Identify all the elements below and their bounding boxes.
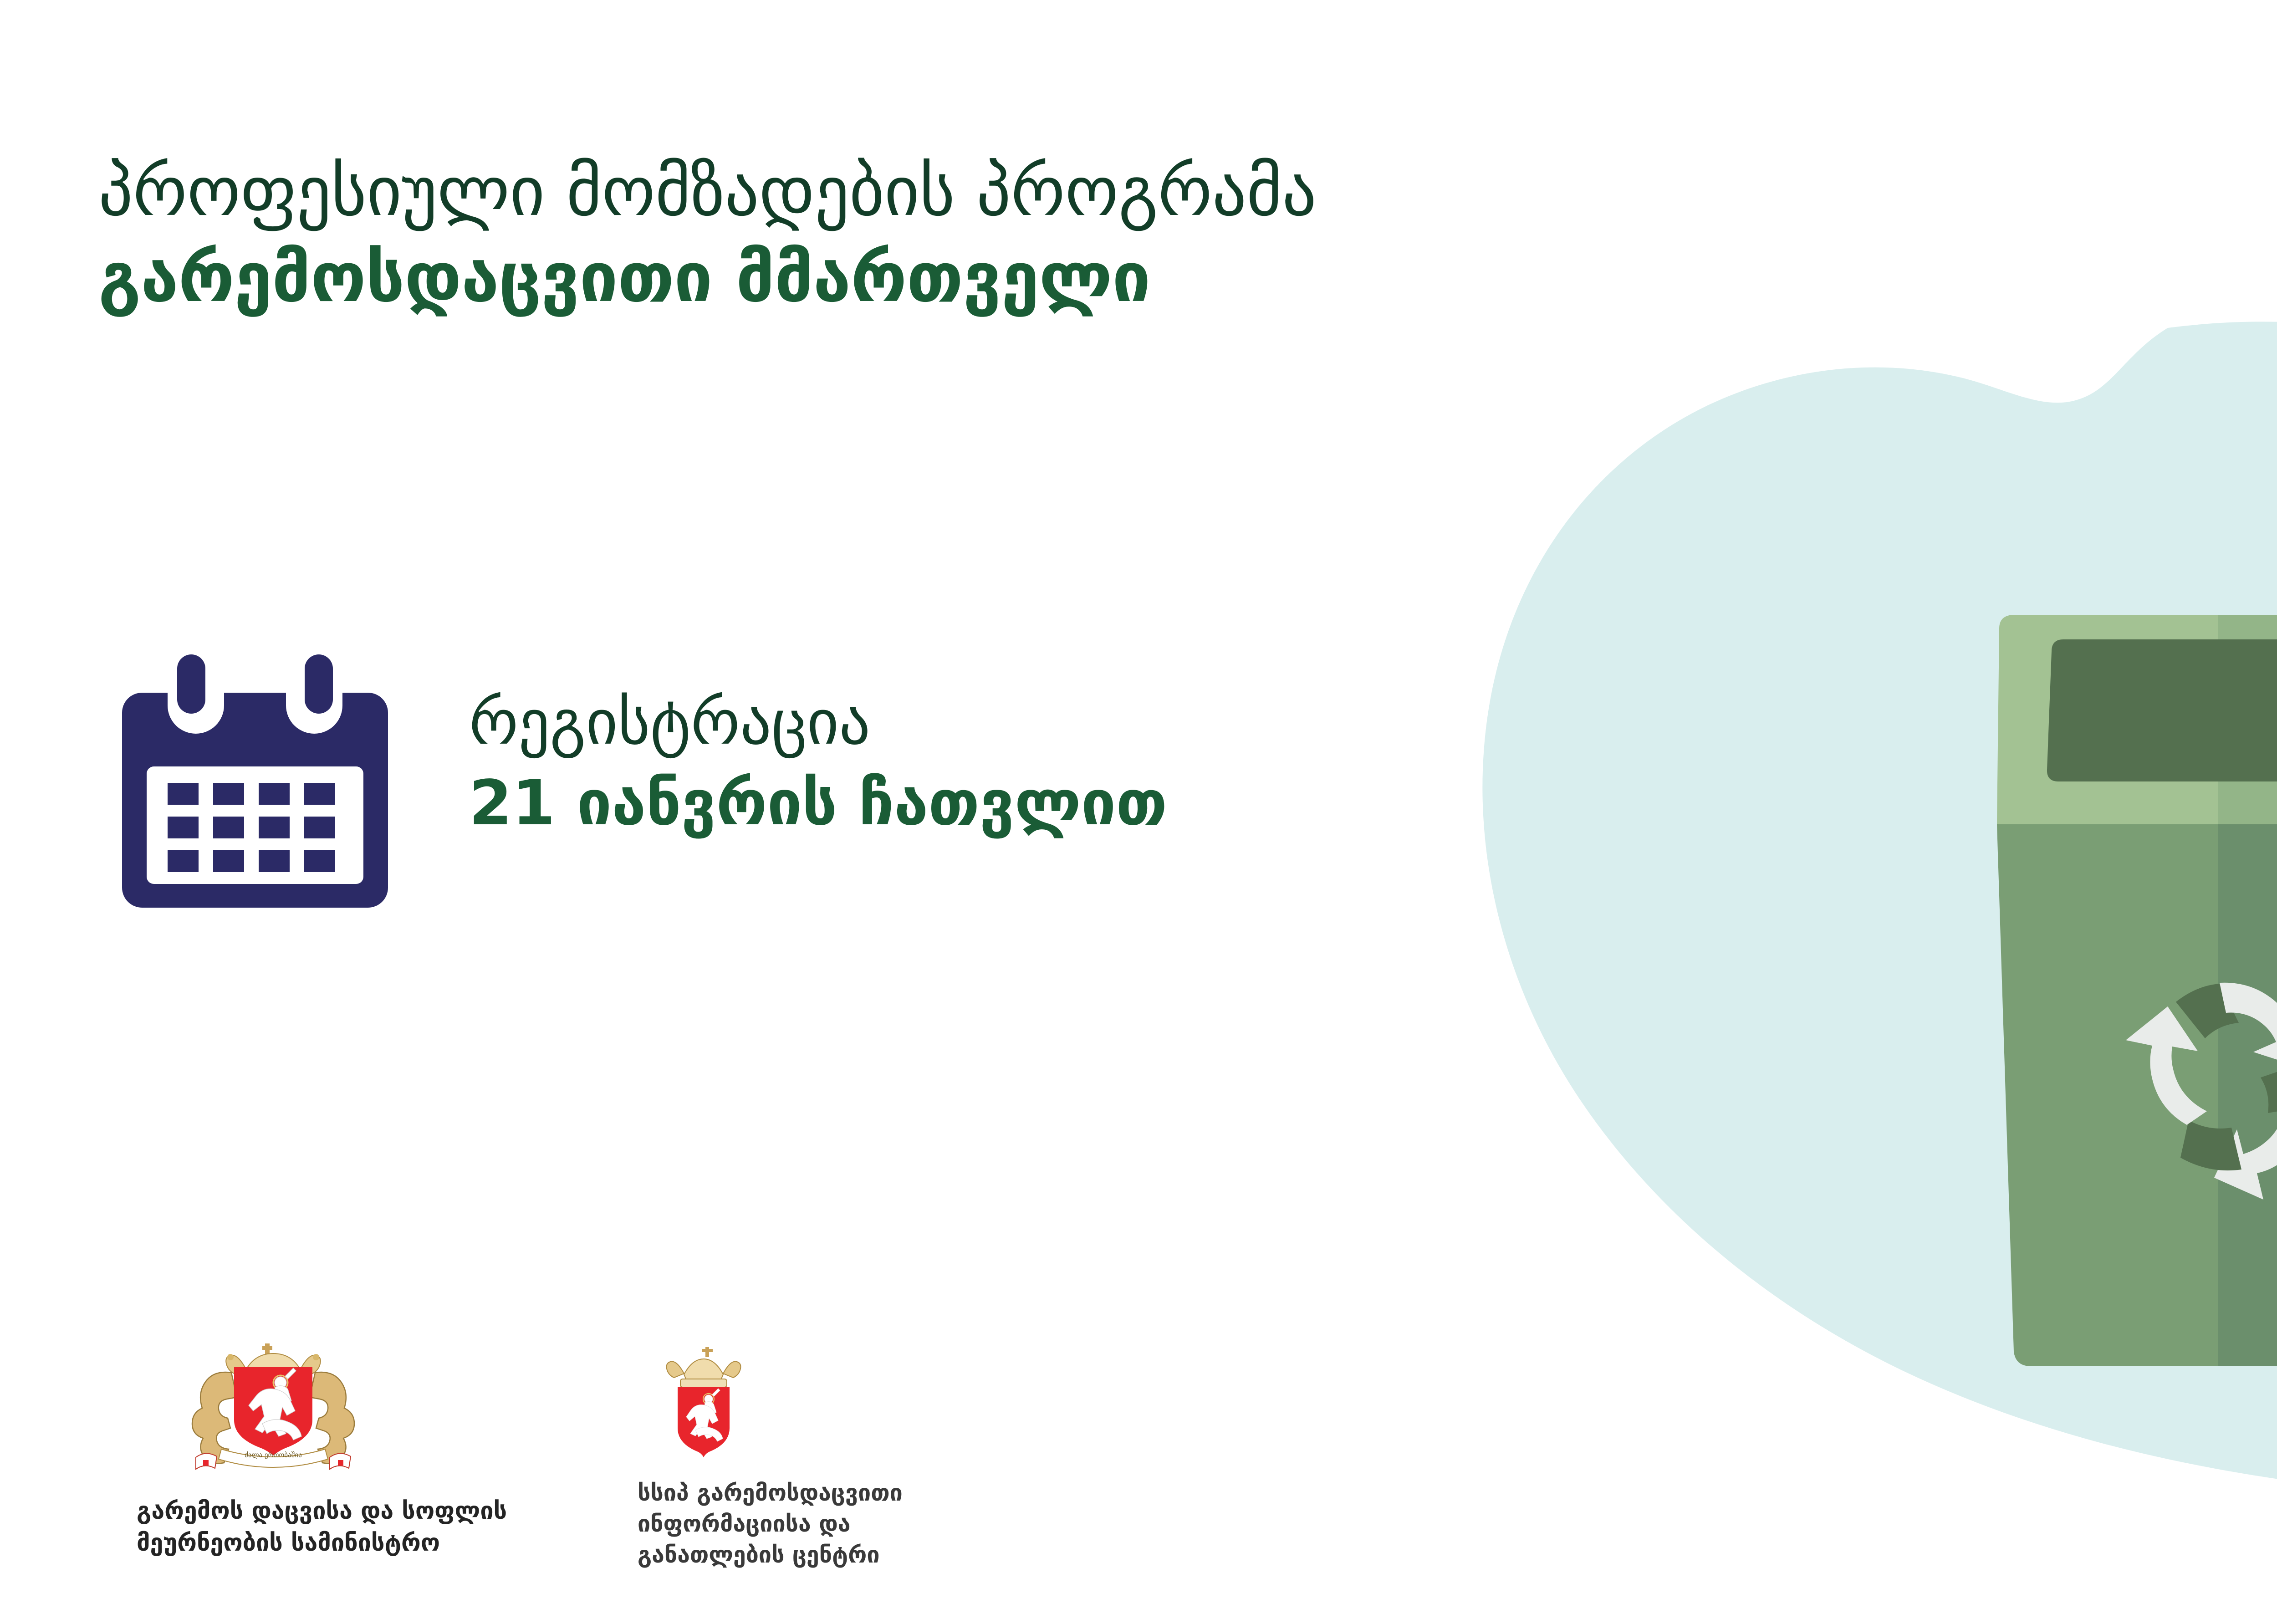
illustration-area (1471, 314, 2277, 1498)
lion-left (192, 1372, 237, 1463)
footer-logos: ძალა ერთობაშია გარემოს დაცვისა და სოფლის… (137, 1343, 1047, 1570)
motto-text: ძალა ერთობაშია (245, 1451, 302, 1459)
center-caption-line-1: სსიპ გარემოსდაცვითი (638, 1477, 1047, 1508)
center-caption: სსიპ გარემოსდაცვითი ინფორმაციისა და განა… (638, 1477, 1047, 1570)
ministry-caption-line-1: გარემოს დაცვისა და სოფლის (137, 1496, 556, 1527)
program-title-line-2: გარემოსდაცვითი მმართველი (98, 236, 2057, 320)
headline-block: პროფესიული მომზადების პროგრამა გარემოსდა… (98, 150, 2057, 320)
ministry-caption: გარემოს დაცვისა და სოფლის მეურნეობის სამ… (137, 1496, 556, 1559)
calendar-icon (114, 654, 396, 928)
crown-icon (667, 1347, 741, 1387)
program-title-line-1: პროფესიული მომზადების პროგრამა (98, 150, 2057, 234)
registration-block: რეგისტრაცია 21 იანვრის ჩათვლით (114, 644, 1167, 928)
georgia-coat-of-arms-icon: ძალა ერთობაშია (178, 1343, 369, 1480)
lion-right (310, 1372, 354, 1463)
logo-ministry: ძალა ერთობაშია გარემოს დაცვისა და სოფლის… (137, 1343, 556, 1559)
center-caption-line-2: ინფორმაციისა და (638, 1508, 1047, 1539)
poster-canvas: პროფესიული მომზადების პროგრამა გარემოსდა… (0, 0, 2277, 1624)
registration-text: რეგისტრაცია 21 იანვრის ჩათვლით (469, 644, 1167, 842)
logo-center: სსიპ გარემოსდაცვითი ინფორმაციისა და განა… (638, 1343, 1047, 1570)
ministry-caption-line-2: მეურნეობის სამინისტრო (137, 1527, 556, 1559)
center-caption-line-3: განათლების ცენტრი (638, 1539, 1047, 1570)
registration-label: რეგისტრაცია (469, 684, 1167, 761)
bin-opening (2047, 639, 2277, 781)
georgia-shield-crown-icon (656, 1347, 751, 1461)
recycling-bin (1997, 615, 2277, 1366)
registration-deadline: 21 იანვრის ჩათვლით (469, 765, 1167, 842)
